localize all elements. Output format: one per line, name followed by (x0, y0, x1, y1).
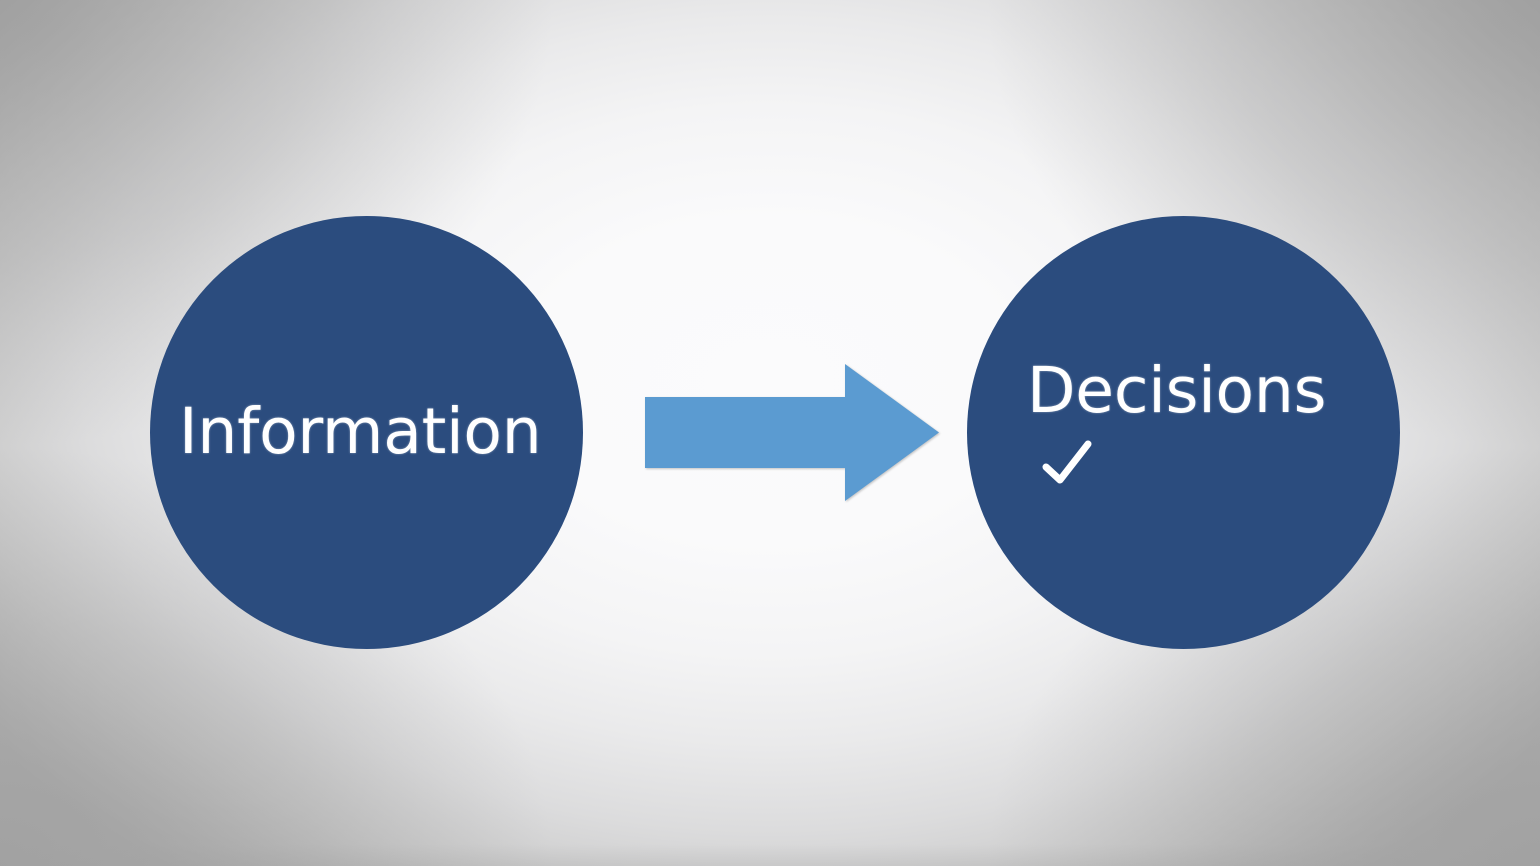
node-decisions-label: Decisions (1027, 359, 1326, 422)
flow-arrow-icon (641, 360, 943, 505)
background-bottom-edge (0, 844, 1540, 866)
node-decisions[interactable]: Decisions (967, 216, 1400, 649)
diagram-canvas: Information Decisions (0, 0, 1540, 866)
node-information[interactable]: Information (150, 216, 583, 649)
checkmark-icon (1041, 438, 1093, 488)
node-information-label: Information (179, 400, 541, 463)
